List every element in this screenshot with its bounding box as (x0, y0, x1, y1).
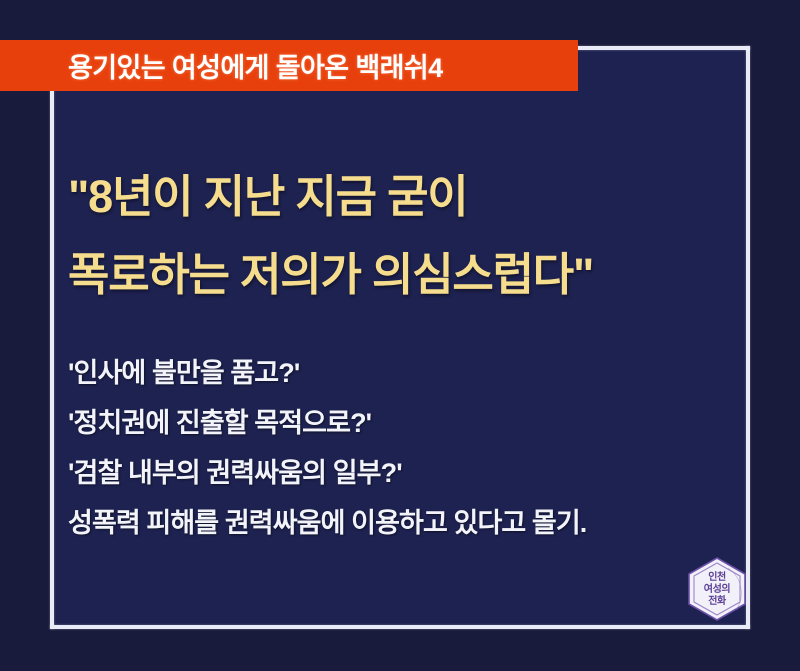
headline-line-1: "8년이 지난 지금 굳이 (68, 158, 593, 236)
title-banner: 용기있는 여성에게 돌아온 백래쉬4 (0, 40, 578, 91)
frame-border-left (50, 46, 54, 629)
frame-border-right (746, 46, 750, 629)
body-line-2: '정치권에 진출할 목적으로?' (68, 398, 586, 448)
organization-logo: 인천 여성의 전화 (684, 556, 750, 622)
headline-line-2: 폭로하는 저의가 의심스럽다" (68, 236, 593, 314)
banner-title-text: 용기있는 여성에게 돌아온 백래쉬4 (68, 46, 442, 85)
hexagon-logo-icon (684, 556, 750, 622)
body-line-4: 성폭력 피해를 권력싸움에 이용하고 있다고 몰기. (68, 498, 586, 548)
body-line-3: '검찰 내부의 권력싸움의 일부?' (68, 448, 586, 498)
infographic-card: 용기있는 여성에게 돌아온 백래쉬4 "8년이 지난 지금 굳이 폭로하는 저의… (0, 0, 800, 671)
frame-border-bottom (50, 625, 750, 629)
body-line-1: '인사에 불만을 품고?' (68, 348, 586, 398)
headline-block: "8년이 지난 지금 굳이 폭로하는 저의가 의심스럽다" (68, 158, 593, 314)
body-text-block: '인사에 불만을 품고?' '정치권에 진출할 목적으로?' '검찰 내부의 권… (68, 348, 586, 548)
